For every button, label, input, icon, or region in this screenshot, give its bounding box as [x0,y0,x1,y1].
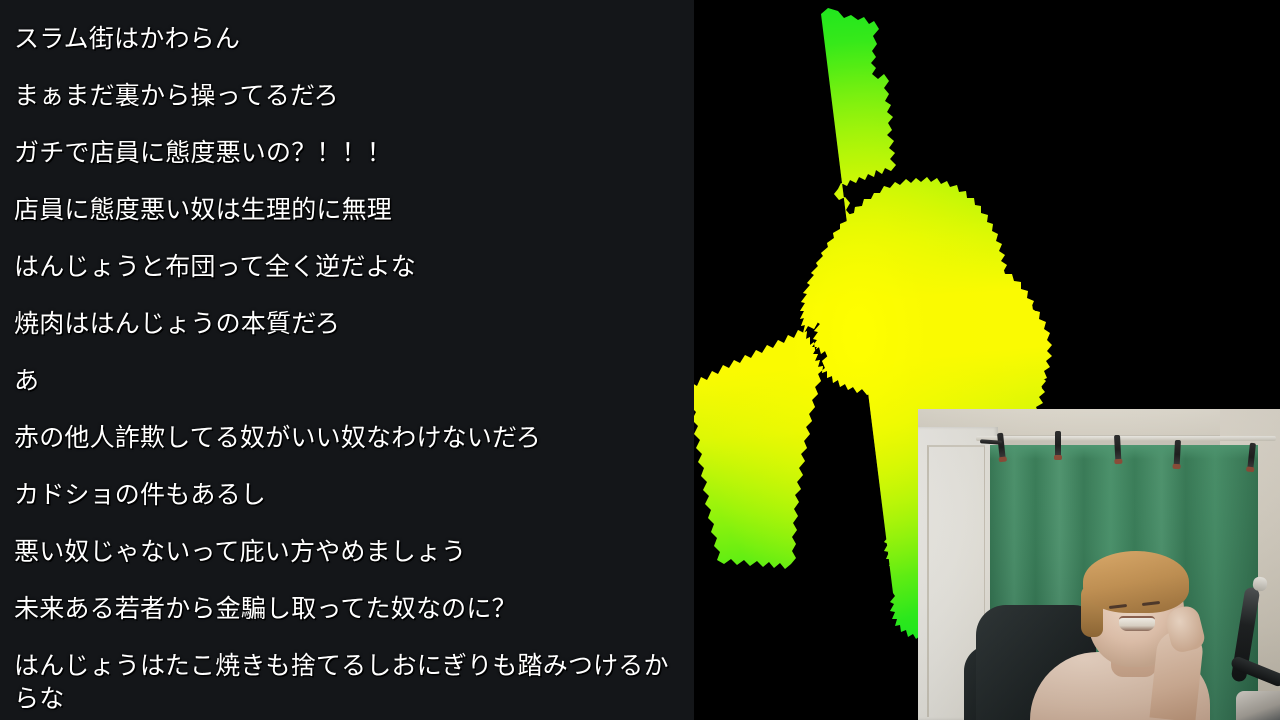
streamer-mouth [1119,616,1155,631]
comment-item: スラム街はかわらん [0,11,694,68]
comment-panel: スラム街はかわらん まぁまだ裏から操ってるだろ ガチで店員に態度悪いの？！！！ … [0,0,694,720]
comment-item: まぁまだ裏から操ってるだろ [0,68,694,125]
comment-list: スラム街はかわらん まぁまだ裏から操ってるだろ ガチで店員に態度悪いの？！！！ … [0,11,694,720]
curtain-clip [1055,431,1061,457]
stream-screen: スラム街はかわらん まぁまだ裏から操ってるだろ ガチで店員に態度悪いの？！！！ … [0,0,1280,720]
comment-item: 未来ある若者から金騙し取ってた奴なのに？ [0,581,694,638]
webcam-overlay[interactable] [918,409,1280,720]
comment-item: はんじょうと布団って全く逆だよな [0,239,694,296]
comment-item: 店員に態度悪い奴は生理的に無理 [0,182,694,239]
curtain-rod [976,436,1276,441]
comment-item: カドショの件もあるし [0,467,694,524]
curtain-clip [1114,435,1121,461]
streamer-hair [1083,551,1189,613]
comment-item: あ [0,353,694,410]
comment-item: ガチで店員に態度悪いの？！！！ [0,125,694,182]
comment-item: 赤の他人詐欺してる奴がいい奴なわけないだろ [0,410,694,467]
comment-item: はんじょうはたこ焼きも捨てるしおにぎりも踏みつけるからな [0,638,694,720]
comment-item: 悪い奴じゃないって庇い方やめましょう [0,524,694,581]
exercise-bike-base [1236,691,1280,720]
comment-item: 焼肉ははんじょうの本質だろ [0,296,694,353]
curtain-highlight [990,445,1258,459]
